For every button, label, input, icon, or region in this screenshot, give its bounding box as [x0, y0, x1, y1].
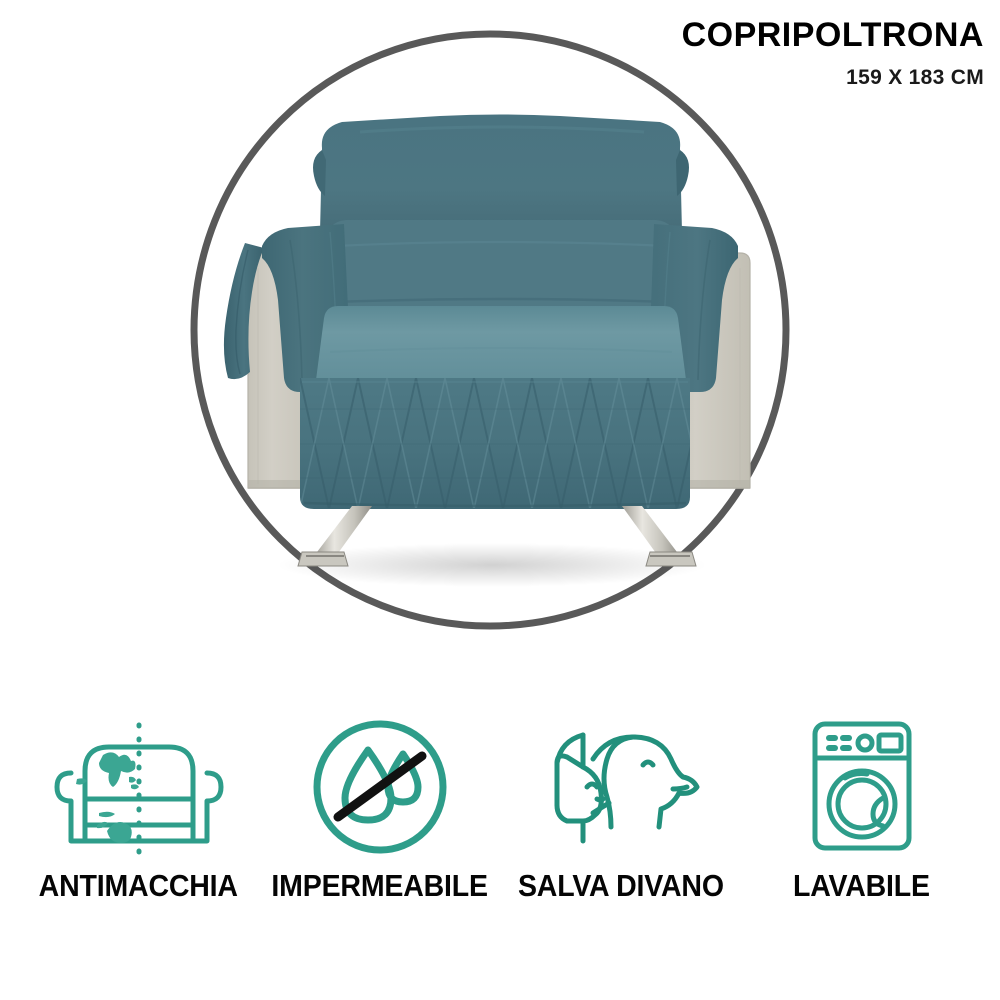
- feature-label-antimacchia: ANTIMACCHIA: [39, 868, 238, 904]
- hero-product-image: [0, 0, 1000, 690]
- feature-label-lavabile: LAVABILE: [793, 868, 930, 904]
- waterproof-droplets-icon: [305, 712, 455, 862]
- cat-and-dog-icon: [521, 712, 721, 862]
- feature-impermeabile: IMPERMEABILE: [259, 712, 500, 904]
- quilted-front-skirt: [271, 378, 735, 509]
- feature-salva-divano: SALVA DIVANO: [500, 712, 741, 904]
- feature-label-salva-divano: SALVA DIVANO: [518, 868, 724, 904]
- feature-antimacchia: ANTIMACCHIA: [18, 712, 259, 904]
- washing-machine-icon: [797, 712, 927, 862]
- feature-label-impermeabile: IMPERMEABILE: [271, 868, 487, 904]
- feature-list: ANTIMACCHIA IMPERMEABILE: [0, 712, 1000, 942]
- seat-surface: [316, 306, 686, 380]
- back-cushion-roll: [330, 220, 672, 313]
- armchair-cover-illustration: [0, 0, 1000, 690]
- feature-lavabile: LAVABILE: [741, 712, 982, 904]
- stained-sofa-icon: [41, 712, 237, 862]
